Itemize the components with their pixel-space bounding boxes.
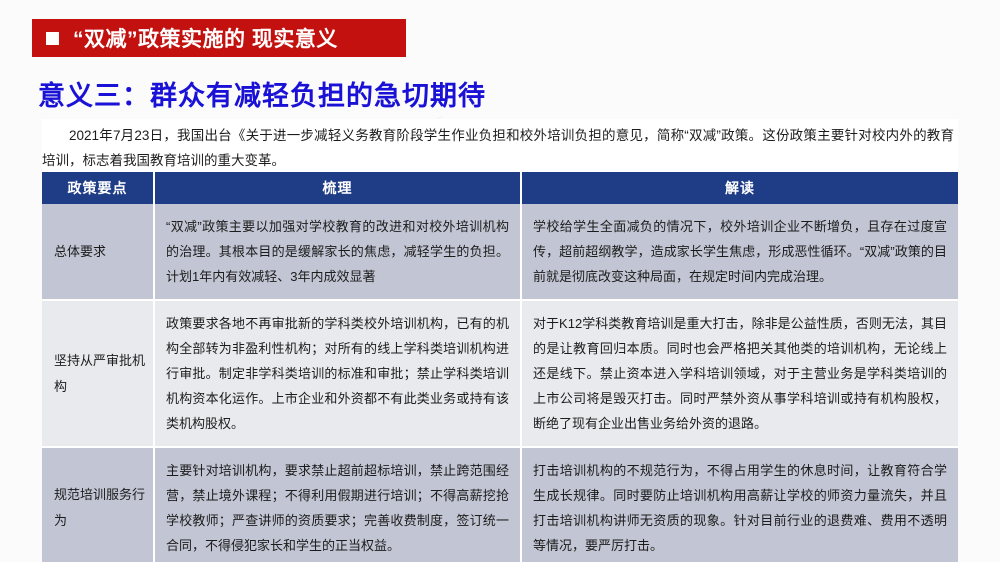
- column-header-interpretation: 解读: [521, 172, 958, 204]
- row-key-label: 总体要求: [42, 204, 154, 300]
- table-header-row: 政策要点 梳理 解读: [42, 172, 958, 204]
- table-row: 规范培训服务行为 主要针对培训机构，要求禁止超前超标培训，禁止跨范围经营，禁止境…: [42, 447, 958, 562]
- row-summary-text: 主要针对培训机构，要求禁止超前超标培训，禁止跨范围经营，禁止境外课程；不得利用假…: [154, 447, 521, 562]
- column-header-key: 政策要点: [42, 172, 154, 204]
- row-summary-text: “双减”政策主要以加强对学校教育的改进和对校外培训机构的治理。其根本目的是缓解家…: [154, 204, 521, 300]
- section-banner: “双减”政策实施的 现实意义: [32, 19, 406, 57]
- row-interpretation-text: 学校给学生全面减负的情况下，校外培训企业不断增负，且存在过度宣传，超前超纲教学，…: [521, 204, 958, 300]
- column-header-summary: 梳理: [154, 172, 521, 204]
- page-title: 意义三：群众有减轻负担的急切期待: [38, 74, 486, 113]
- table-body: 总体要求 “双减”政策主要以加强对学校教育的改进和对校外培训机构的治理。其根本目…: [42, 204, 958, 562]
- row-interpretation-text: 对于K12学科类教育培训是重大打击，除非是公益性质，否则无法，其目的是让教育回归…: [521, 300, 958, 447]
- square-bullet-icon: [46, 32, 59, 45]
- policy-table: 政策要点 梳理 解读 总体要求 “双减”政策主要以加强对学校教育的改进和对校外培…: [42, 172, 958, 562]
- row-key-label: 坚持从严审批机构: [42, 300, 154, 447]
- row-interpretation-text: 打击培训机构的不规范行为，不得占用学生的休息时间，让教育符合学生成长规律。同时要…: [521, 447, 958, 562]
- row-summary-text: 政策要求各地不再审批新的学科类校外培训机构，已有的机构全部转为非盈利性机构；对所…: [154, 300, 521, 447]
- table-row: 坚持从严审批机构 政策要求各地不再审批新的学科类校外培训机构，已有的机构全部转为…: [42, 300, 958, 447]
- intro-paragraph: 2021年7月23日，我国出台《关于进一步减轻义务教育阶段学生作业负担和校外培训…: [42, 119, 958, 177]
- row-key-label: 规范培训服务行为: [42, 447, 154, 562]
- section-banner-title: “双减”政策实施的 现实意义: [73, 23, 338, 53]
- table-header: 政策要点 梳理 解读: [42, 172, 958, 204]
- table-row: 总体要求 “双减”政策主要以加强对学校教育的改进和对校外培训机构的治理。其根本目…: [42, 204, 958, 300]
